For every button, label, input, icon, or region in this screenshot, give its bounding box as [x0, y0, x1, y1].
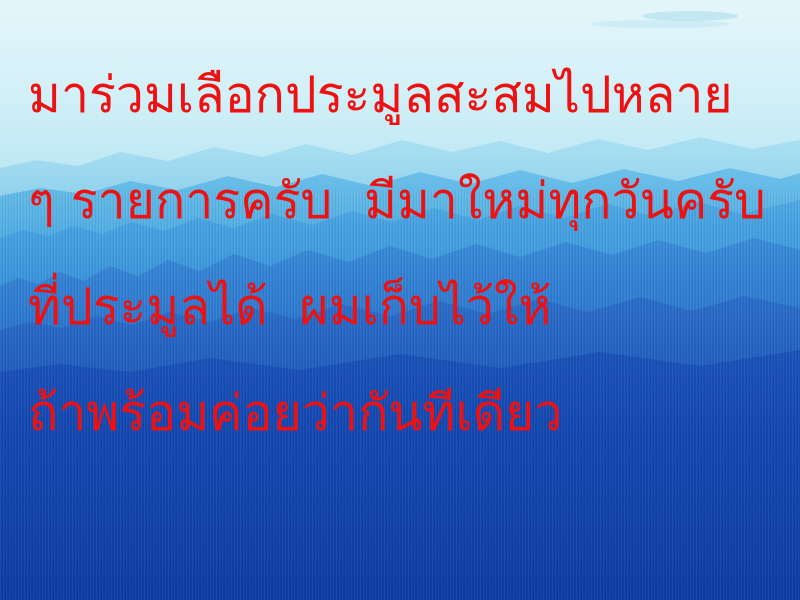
- cloud-wisp: [642, 11, 738, 21]
- image-canvas: มาร่วมเลือกประมูลสะสมไปหลาย ๆ รายการครับ…: [0, 0, 800, 600]
- mountain-photo-background: [0, 0, 800, 600]
- photo-grain: [0, 190, 800, 600]
